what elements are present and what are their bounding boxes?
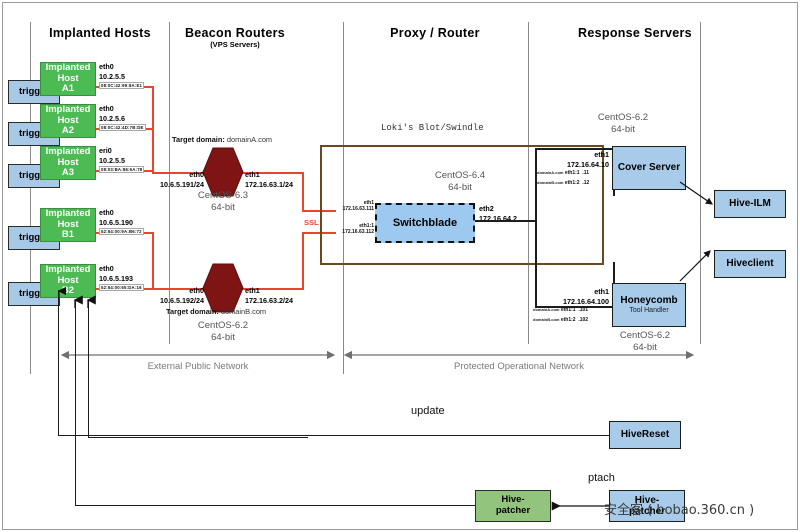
honeycomb-server[interactable]: Honeycomb Tool Handler	[612, 283, 686, 327]
update-line-vertical	[58, 290, 59, 436]
honeycomb-alias1-domain: domainA.com	[533, 307, 559, 312]
proxy-in2: eth1:1 172.16.63.112	[326, 223, 374, 235]
implanted-host-a3-label: ImplantedHostA3	[46, 147, 91, 179]
hiveclient-client[interactable]: Hiveclient	[714, 250, 786, 278]
router-b-eth1: eth1 172.16.63.2/24	[245, 286, 293, 306]
switchblade-label: Switchblade	[393, 217, 457, 229]
hivereset-node[interactable]: HiveReset	[609, 421, 681, 449]
honeycomb-alias1-name: eth1:1	[561, 307, 576, 313]
host-b2-iface-name: eth0	[99, 264, 114, 273]
honeycomb-alias2-ip: .102	[578, 317, 588, 323]
cover-server[interactable]: Cover Server	[612, 146, 686, 190]
cover-server-alias2: domainB.com eth1:2 .12	[537, 180, 589, 186]
honeycomb-alias1: domainA.com eth1:1 .101	[533, 307, 588, 313]
host-b1-iface-name: eth0	[99, 208, 114, 217]
router-b-eth1-ip: 172.16.63.2/24	[245, 296, 293, 305]
honeycomb-alias1-ip: .101	[578, 307, 588, 313]
cover-server-label: Cover Server	[618, 162, 680, 173]
ptach-label: ptach	[588, 472, 615, 484]
implanted-host-b1[interactable]: ImplantedHostB1	[40, 208, 96, 242]
router-b-target-label: Target domain:	[166, 307, 219, 316]
router-a-eth1-ip: 172.16.63.1/24	[245, 180, 293, 189]
host-a2-ip: 10.2.5.6	[99, 114, 125, 123]
external-network-arrow	[62, 348, 334, 362]
honeycomb-eth1-name: eth1	[594, 287, 609, 296]
header-proxy-router: Proxy / Router	[340, 26, 530, 40]
router-a-os-name: CentOS-6.3	[198, 190, 248, 201]
cover-server-os-name: CentOS-6.2	[598, 112, 648, 123]
external-network-label: External Public Network	[62, 361, 334, 372]
header-beacon-routers: Beacon Routers	[160, 26, 310, 40]
honeycomb-eth1-ip: 172.16.64.100	[563, 297, 609, 306]
proxy-out-name: eth2	[479, 204, 494, 213]
router-a-target-label: Target domain:	[172, 135, 225, 144]
router-b-target-value: domainB.com	[221, 307, 266, 316]
proxy-os-name: CentOS-6.4	[435, 170, 485, 181]
router-b-target: Target domain: domainB.com	[166, 307, 266, 316]
implanted-host-a3[interactable]: ImplantedHostA3	[40, 146, 96, 180]
implanted-host-a1-label: ImplantedHostA1	[46, 63, 91, 95]
host-b2-ip: 10.6.5.193	[99, 274, 133, 283]
honeycomb-eth1: eth1 172.16.64.100	[547, 287, 609, 307]
hive-patcher-node[interactable]: Hive-patcher	[475, 490, 551, 522]
host-a2-iface: eth0 10.2.5.6	[99, 104, 125, 124]
host-a3-iface: eri0 10.2.5.5	[99, 146, 125, 166]
honeycomb-alias2-domain: domainB.com	[533, 317, 559, 322]
switchblade-device[interactable]: Switchblade	[375, 203, 475, 243]
arrow-patcher	[551, 500, 611, 512]
router-b-os: CentOS-6.2 64-bit	[178, 320, 268, 343]
honeycomb-os-name: CentOS-6.2	[620, 330, 670, 341]
patch-line-vertical-1	[75, 300, 76, 506]
router-a-arch: 64-bit	[211, 202, 235, 213]
host-a1-ip: 10.2.5.5	[99, 72, 125, 81]
column-divider-1	[30, 22, 31, 374]
router-b-eth0: eth0 10.6.5.192/24	[152, 286, 204, 306]
proxy-os: CentOS-6.4 64-bit	[360, 170, 560, 193]
host-a3-iface-name: eri0	[99, 146, 112, 155]
honeycomb-alias2: domainB.com eth1:2 .102	[533, 317, 588, 323]
protected-network-arrow	[345, 348, 693, 362]
loki-zone-label: Loki's Blot/Swindle	[381, 123, 484, 133]
cover-server-alias2-name: eth1:2	[565, 180, 580, 186]
cover-server-alias1-domain: domainA.com	[537, 170, 563, 175]
cover-server-alias1-name: eth1:1	[565, 170, 580, 176]
router-a-target: Target domain: domainA.com	[172, 135, 272, 144]
patch-line-horizontal-1	[75, 505, 475, 506]
router-b-eth0-name: eth0	[189, 286, 204, 295]
router-a-os: CentOS-6.3 64-bit	[178, 190, 268, 213]
host-b2-mac: 52:54:00:65:DA:16	[99, 284, 144, 291]
proxy-in2-ip: 172.16.63.112	[342, 229, 374, 235]
host-b1-ip: 10.6.5.190	[99, 218, 133, 227]
cover-server-eth1-name: eth1	[594, 150, 609, 159]
beacon-router-a[interactable]	[203, 148, 243, 196]
cover-server-os: CentOS-6.2 64-bit	[578, 112, 668, 135]
patch-line-horizontal-2	[88, 437, 308, 438]
host-a2-mac: 08:0C:42:4D:7B:DE	[99, 124, 146, 131]
router-a-eth1-name: eth1	[245, 170, 260, 179]
proxy-in1-ip: 172.16.63.111	[343, 206, 374, 212]
diagram-canvas: Implanted Hosts Beacon Routers (VPS Serv…	[0, 0, 800, 532]
link-b-bus	[152, 232, 154, 290]
host-a2-iface-name: eth0	[99, 104, 114, 113]
router-b-arch: 64-bit	[211, 332, 235, 343]
cover-server-eth1-ip: 172.16.64.10	[567, 160, 609, 169]
router-b-os-name: CentOS-6.2	[198, 320, 248, 331]
watermark-text: 安全客 ( bobao.360.cn )	[604, 499, 754, 518]
beacon-router-b[interactable]	[203, 264, 243, 312]
update-line-horizontal	[58, 435, 610, 436]
implanted-host-a2[interactable]: ImplantedHostA2	[40, 104, 96, 138]
host-a1-mac: 08:0C:42:99:8A:E1	[99, 82, 144, 89]
router-a-eth0-ip: 10.6.5.191/24	[160, 180, 204, 189]
router-b-eth1-name: eth1	[245, 286, 260, 295]
host-a1-iface-name: eth0	[99, 62, 114, 71]
patch-arrows-to-trigger	[66, 297, 100, 309]
cover-server-alias1-ip: .11	[582, 170, 589, 176]
honeycomb-alias2-name: eth1:2	[561, 317, 576, 323]
honeycomb-label: Honeycomb	[620, 295, 677, 306]
router-a-eth0: eth0 10.6.5.191/24	[156, 170, 204, 190]
proxy-out-ip: 172.16.64.2	[479, 214, 517, 223]
proxy-arch: 64-bit	[448, 182, 472, 193]
host-b1-mac: 52:54:00:9A:B6:72	[99, 228, 144, 235]
link-routerb-up	[302, 232, 304, 290]
implanted-host-b1-label: ImplantedHostB1	[46, 209, 91, 241]
proxy-in1: eth1 172.16.63.111	[326, 200, 374, 212]
implanted-host-a2-label: ImplantedHostA2	[46, 105, 91, 137]
header-beacon-routers-sub: (VPS Servers)	[160, 40, 310, 49]
hiveclient-label: Hiveclient	[726, 258, 773, 269]
cover-server-alias2-ip: .12	[582, 180, 589, 186]
host-a3-mac: 08:03:BA:86:6A:78	[99, 166, 144, 173]
cover-server-alias1: domainA.com eth1:1 .11	[537, 170, 589, 176]
host-a1-iface: eth0 10.2.5.5	[99, 62, 125, 82]
honeycomb-subtitle: Tool Handler	[629, 307, 668, 315]
protected-network-label: Protected Operational Network	[345, 361, 693, 372]
update-label: update	[411, 405, 445, 417]
patch-line-vertical-2	[88, 300, 89, 438]
host-b1-iface: eth0 10.6.5.190	[99, 208, 133, 228]
cover-server-alias2-domain: domainB.com	[537, 180, 563, 185]
hive-ilm-client[interactable]: Hive-ILM	[714, 190, 786, 218]
link-routera-down	[302, 172, 304, 212]
hive-patcher-label: Hive-patcher	[496, 495, 530, 516]
hivereset-label: HiveReset	[621, 429, 669, 440]
header-response-servers: Response Servers	[545, 26, 725, 40]
cover-server-eth1: eth1 172.16.64.10	[551, 150, 609, 170]
ssl-label: SSL	[304, 218, 319, 227]
link-proxy-to-response	[475, 220, 535, 222]
host-a3-ip: 10.2.5.5	[99, 156, 125, 165]
router-a-eth0-name: eth0	[189, 170, 204, 179]
router-a-eth1: eth1 172.16.63.1/24	[245, 170, 293, 190]
hive-ilm-label: Hive-ILM	[729, 198, 771, 209]
host-b2-iface: eth0 10.6.5.193	[99, 264, 133, 284]
implanted-host-a1[interactable]: ImplantedHostA1	[40, 62, 96, 96]
router-a-target-value: domainA.com	[227, 135, 272, 144]
router-b-eth0-ip: 10.6.5.192/24	[160, 296, 204, 305]
cover-server-arch: 64-bit	[611, 124, 635, 135]
